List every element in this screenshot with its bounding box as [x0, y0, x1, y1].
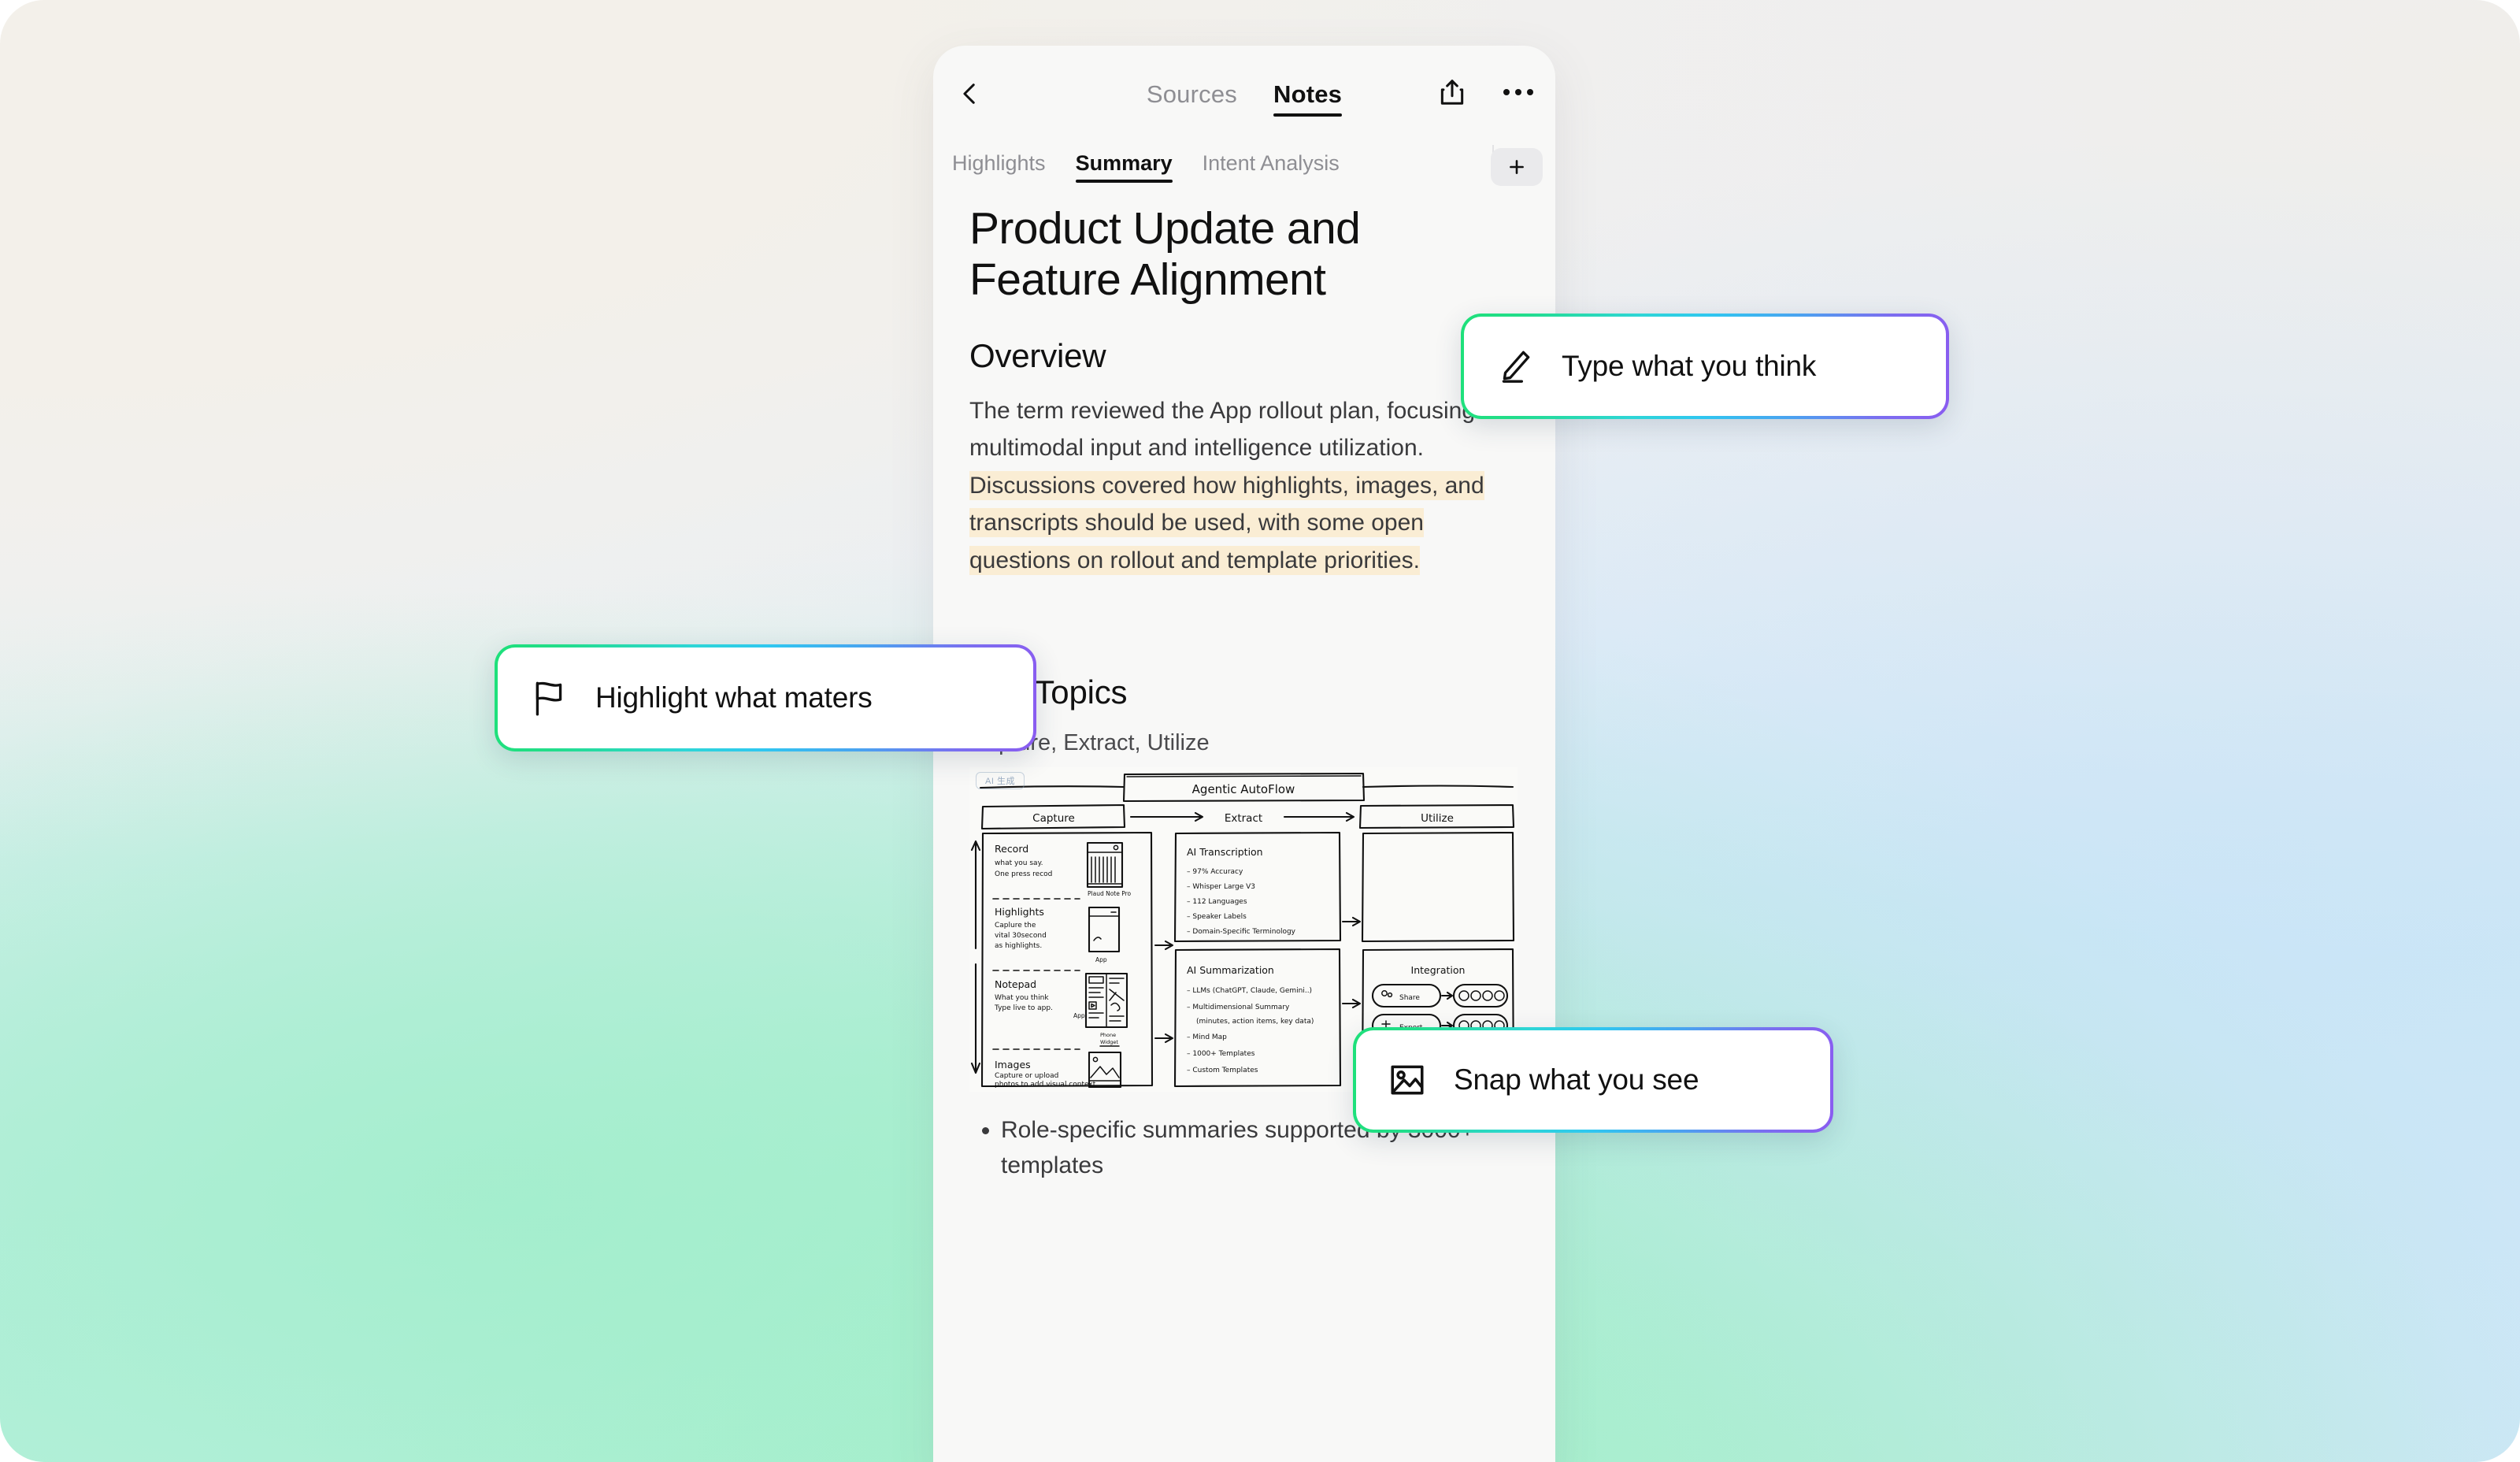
svg-text:– Custom Templates: – Custom Templates [1187, 1067, 1258, 1074]
key-topics-summary: Capture, Extract, Utilize [969, 730, 1519, 756]
overview-heading: Overview [969, 337, 1519, 375]
svg-text:– Whisper Large V3: – Whisper Large V3 [1187, 883, 1255, 891]
svg-text:– 112 Languages: – 112 Languages [1187, 898, 1247, 906]
svg-text:One press recod: One press recod [995, 870, 1052, 878]
stage-capture-label: Capture [1032, 812, 1075, 825]
subtab-highlights[interactable]: Highlights [952, 151, 1046, 183]
subtab-intent-analysis[interactable]: Intent Analysis [1203, 151, 1340, 183]
callout-highlight-what-maters[interactable]: Highlight what maters [495, 644, 1036, 751]
phone-card: Sources Notes Highlights Summary Intent … [933, 46, 1555, 1462]
svg-text:Phone: Phone [1100, 1032, 1116, 1038]
svg-text:as highlights.: as highlights. [995, 942, 1042, 950]
svg-text:vital 30second: vital 30second [995, 932, 1047, 940]
diagram-header-label: Agentic AutoFlow [1192, 782, 1295, 796]
overview-paragraph: The term reviewed the App rollout plan, … [969, 392, 1519, 579]
callout-snap-what-you-see[interactable]: Snap what you see [1353, 1027, 1833, 1133]
svg-text:what you say.: what you say. [995, 859, 1043, 867]
callout-highlight-label: Highlight what maters [595, 681, 873, 714]
capture-highlights-title: Highlights [995, 906, 1044, 918]
nav-tab-sources[interactable]: Sources [1147, 80, 1237, 117]
capture-highlights-device-label: App [1095, 956, 1107, 963]
svg-text:– Mind Map: – Mind Map [1187, 1033, 1227, 1041]
nav-tab-notes[interactable]: Notes [1273, 80, 1342, 117]
flag-icon [529, 678, 569, 718]
stage-extract-label: Extract [1225, 812, 1262, 825]
subtab-list: Highlights Summary Intent Analysis [933, 139, 1555, 183]
plus-icon [1506, 157, 1527, 177]
capture-record-device-label: Plaud Note Pro [1088, 890, 1132, 897]
svg-text:– Domain-Specific Terminology: – Domain-Specific Terminology [1187, 928, 1296, 936]
svg-text:photos to add visual context: photos to add visual context [995, 1081, 1096, 1089]
top-bar-actions [1437, 77, 1533, 107]
utilize-integration-title: Integration [1411, 964, 1466, 976]
subtab-summary[interactable]: Summary [1076, 151, 1173, 183]
stage-utilize-label: Utilize [1421, 812, 1454, 825]
top-navigation-bar: Sources Notes [933, 46, 1555, 139]
svg-text:Widget: Widget [1100, 1039, 1118, 1045]
callout-type-what-you-think[interactable]: Type what you think [1461, 314, 1949, 419]
svg-text:(minutes, action items, key da: (minutes, action items, key data) [1196, 1018, 1314, 1026]
svg-text:What you think: What you think [995, 994, 1049, 1002]
share-icon[interactable] [1437, 77, 1467, 107]
capture-record-title: Record [995, 843, 1028, 855]
svg-text:– LLMs (ChatGPT, Claude, Gemin: – LLMs (ChatGPT, Claude, Gemini..) [1187, 987, 1312, 995]
extract-summarization-title: AI Summarization [1187, 964, 1274, 976]
integration-share-label: Share [1399, 994, 1420, 1002]
svg-text:Caplure the: Caplure the [995, 922, 1036, 930]
capture-images-title: Images [995, 1059, 1031, 1071]
add-tab-button[interactable] [1491, 148, 1543, 186]
page-title: Product Update and Feature Alignment [969, 203, 1519, 306]
svg-text:– Multidimensional Summary: – Multidimensional Summary [1187, 1004, 1290, 1011]
image-icon [1388, 1060, 1427, 1100]
svg-text:– Speaker Labels: – Speaker Labels [1187, 913, 1247, 921]
capture-notepad-device-label: App [1073, 1012, 1085, 1019]
svg-text:– 97% Accuracy: – 97% Accuracy [1187, 868, 1243, 876]
svg-text:Type live to app.: Type live to app. [994, 1004, 1053, 1012]
extract-transcription-title: AI Transcription [1187, 846, 1263, 858]
capture-notepad-title: Notepad [995, 978, 1036, 990]
overview-text-highlighted[interactable]: Discussions covered how highlights, imag… [969, 471, 1484, 575]
more-horizontal-icon[interactable] [1503, 77, 1533, 107]
key-topics-heading: Key Topics [969, 673, 1519, 711]
svg-text:– 1000+ Templates: – 1000+ Templates [1187, 1050, 1255, 1058]
overview-text-plain: The term reviewed the App rollout plan, … [969, 398, 1508, 461]
callout-snap-label: Snap what you see [1454, 1063, 1699, 1096]
pencil-icon [1495, 347, 1535, 386]
callout-type-label: Type what you think [1562, 350, 1816, 383]
svg-text:Capture or upload: Capture or upload [995, 1072, 1058, 1080]
ai-watermark-badge: AI 生成 [976, 772, 1025, 789]
